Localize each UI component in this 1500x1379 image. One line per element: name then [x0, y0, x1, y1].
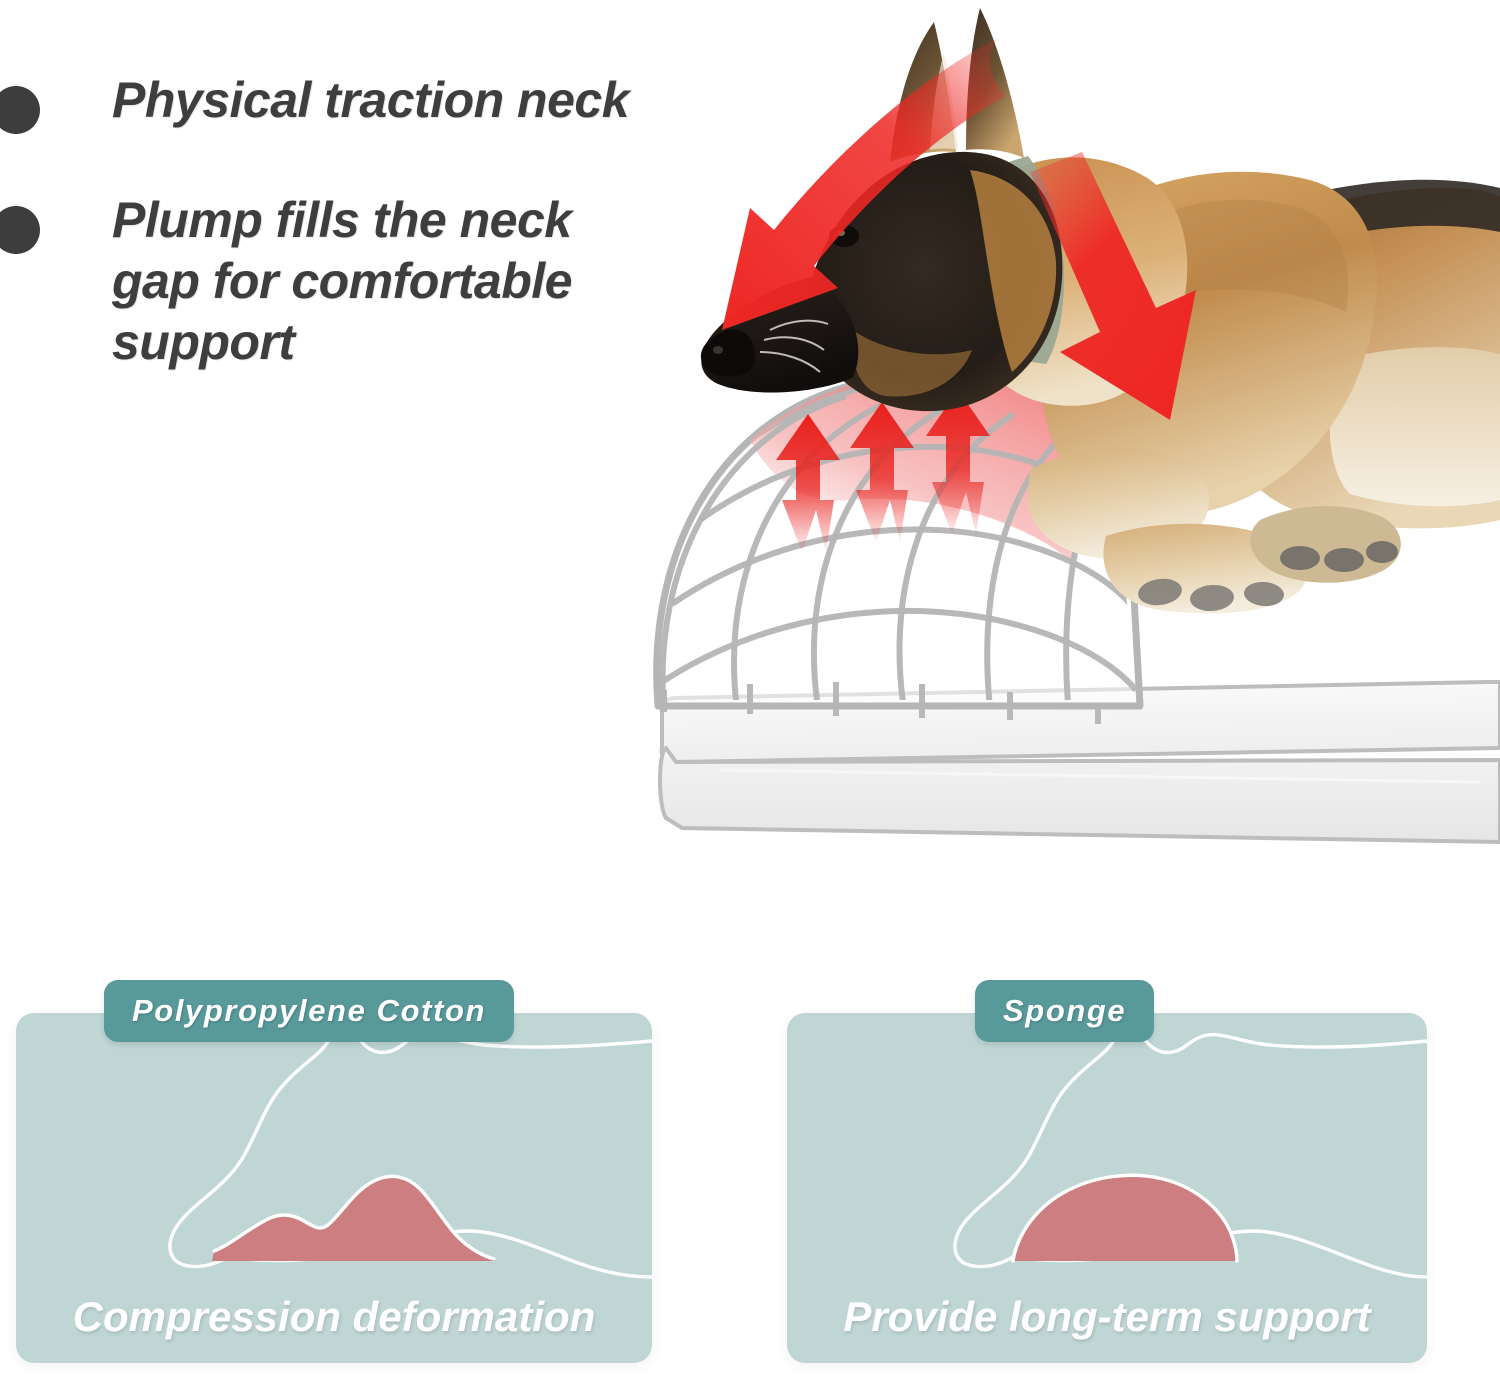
comparison-panel-polypropylene-cotton: Polypropylene Cotton	[16, 1013, 652, 1363]
compressed-filling-shape	[212, 1176, 496, 1261]
panel-caption: Compression deformation	[16, 1293, 652, 1341]
panel-pill-label: Polypropylene Cotton	[132, 993, 486, 1029]
panel-label-pill: Polypropylene Cotton	[104, 980, 514, 1042]
deformation-diagram	[16, 1013, 652, 1283]
comparison-panel-sponge: Sponge Provide long-term support	[787, 1013, 1427, 1363]
panel-label-pill: Sponge	[975, 980, 1154, 1042]
panel-caption: Provide long-term support	[787, 1293, 1427, 1341]
bullet-dot-icon	[0, 206, 40, 254]
bullet-dot-icon	[0, 86, 40, 134]
feature-bullet-list: Physical traction neck Plump fills the n…	[0, 70, 660, 429]
infographic-canvas: Physical traction neck Plump fills the n…	[0, 0, 1500, 1379]
support-diagram	[787, 1013, 1427, 1283]
panel-pill-label: Sponge	[1003, 993, 1126, 1029]
feature-text: Physical traction neck	[112, 70, 629, 131]
hero-illustration	[600, 0, 1500, 880]
list-item: Plump fills the neck gap for comfortable…	[0, 190, 660, 373]
list-item: Physical traction neck	[0, 70, 660, 134]
intact-filling-shape	[1013, 1175, 1237, 1261]
feature-text: Plump fills the neck gap for comfortable…	[112, 190, 660, 373]
